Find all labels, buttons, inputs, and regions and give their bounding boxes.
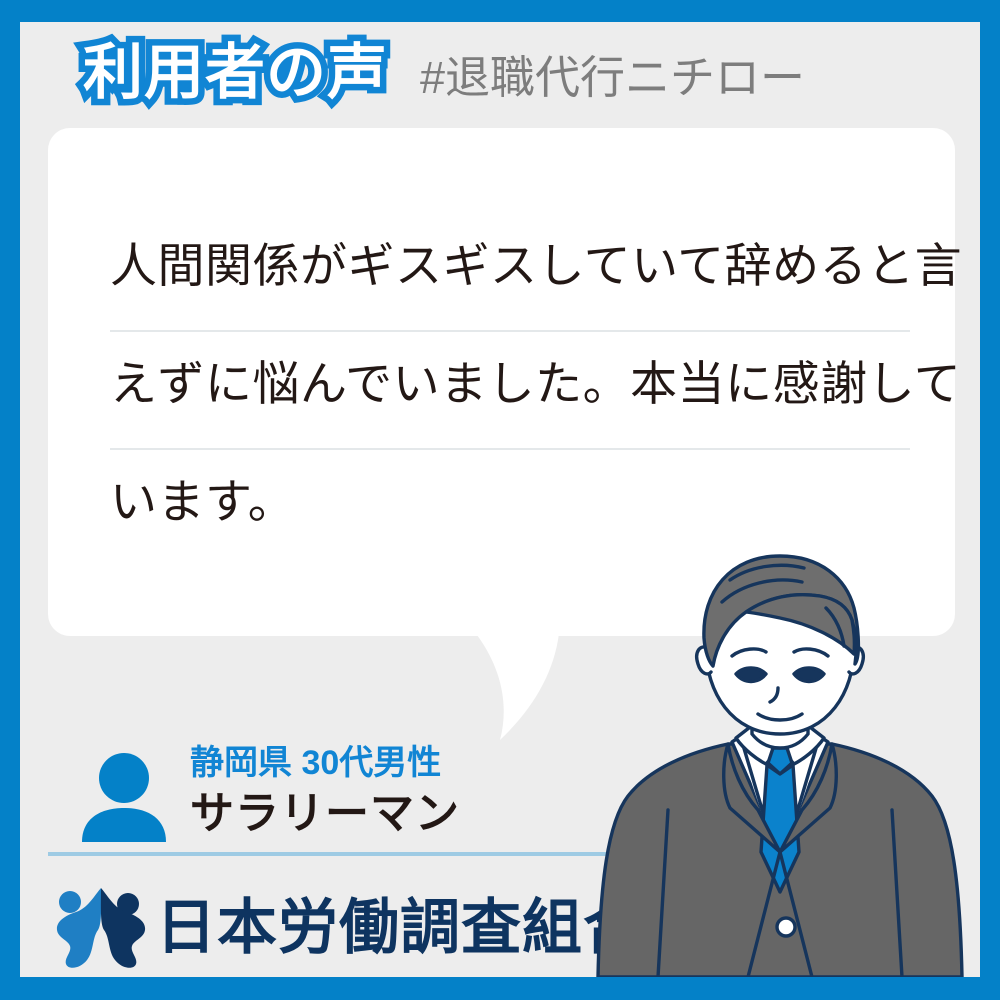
quote-line: います。 [110, 450, 910, 568]
quote-block: 人間関係がギスギスしていて辞めると言 えずに悩んでいました。本当に感謝して いま… [110, 214, 910, 568]
quote-line: 人間関係がギスギスしていて辞めると言 [110, 214, 910, 332]
quote-line: えずに悩んでいました。本当に感謝して [110, 332, 910, 450]
header: 利用者の声 #退職代行ニチロー [20, 22, 980, 128]
card-inner: 利用者の声 #退職代行ニチロー 人間関係がギスギスしていて辞めると言 えずに悩ん… [20, 22, 980, 977]
page-title: 利用者の声 [83, 38, 388, 108]
attribution-region-age-gender: 静岡県 30代男性 [190, 740, 460, 786]
testimonial-card: 利用者の声 #退職代行ニチロー 人間関係がギスギスしていて辞めると言 えずに悩ん… [0, 0, 1000, 1000]
hashtag-label: #退職代行ニチロー [420, 50, 805, 106]
attribution-block: 静岡県 30代男性 サラリーマン [72, 734, 632, 852]
businessman-illustration [580, 552, 980, 977]
person-icon [82, 752, 166, 842]
speech-bubble-tail-icon [440, 622, 590, 742]
attribution-occupation: サラリーマン [190, 786, 460, 842]
attribution-text: 静岡県 30代男性 サラリーマン [190, 740, 460, 842]
organization-name: 日本労働調査組合 [156, 886, 644, 970]
two-people-heart-logo-icon [54, 886, 148, 970]
